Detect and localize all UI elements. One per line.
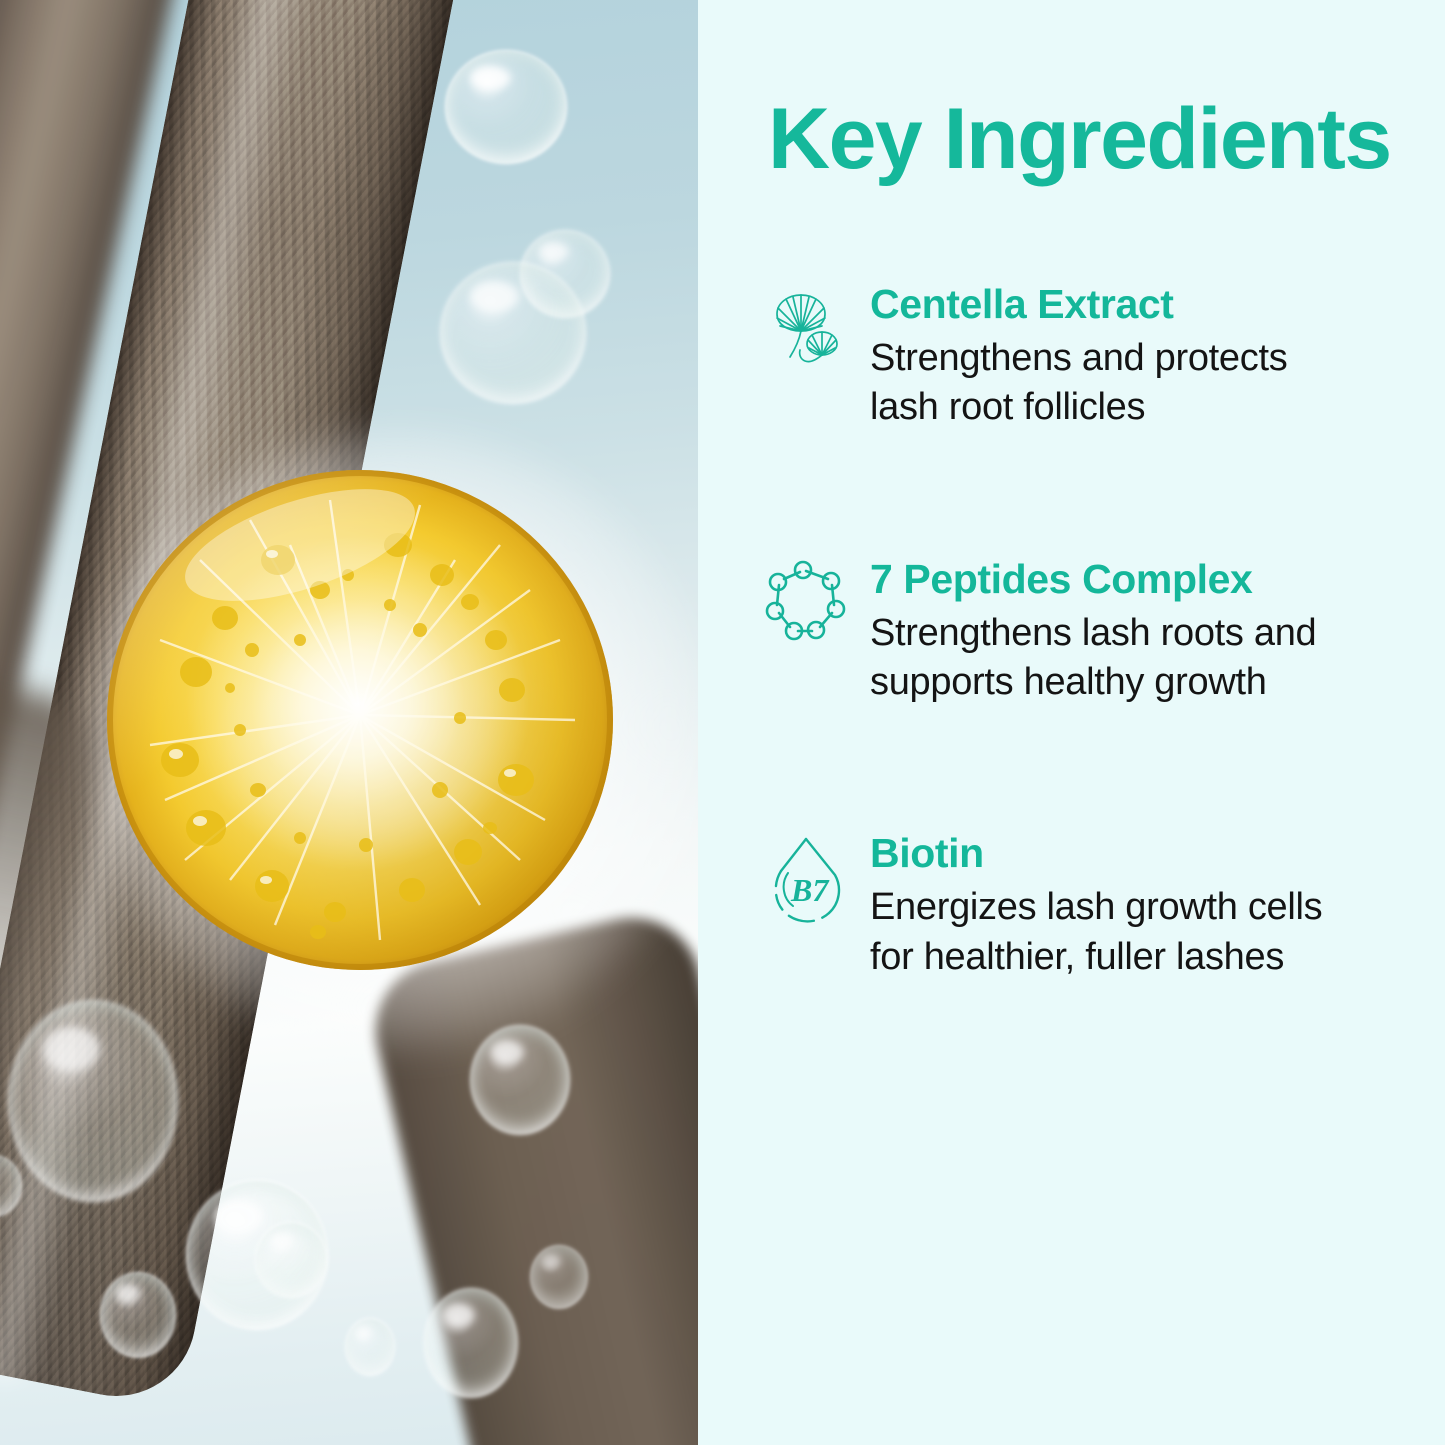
description-line: Energizes lash growth cells	[870, 883, 1418, 932]
bubble	[8, 1000, 178, 1202]
description-line: Strengthens and protects	[870, 334, 1418, 383]
bubble	[100, 1272, 176, 1358]
ingredient-text: 7 Peptides Complex Strengthens lash root…	[854, 553, 1418, 708]
bubble	[470, 1025, 570, 1135]
page-title: Key Ingredients	[768, 96, 1391, 182]
ingredients-panel: Key Ingredients	[698, 0, 1445, 1445]
list-item: 7 Peptides Complex Strengthens lash root…	[758, 553, 1418, 708]
key-ingredients-infographic: Key Ingredients	[0, 0, 1445, 1445]
list-item: Centella Extract Strengthens and protect…	[758, 278, 1418, 433]
ingredient-text: Centella Extract Strengthens and protect…	[854, 278, 1418, 433]
bubble	[345, 1318, 395, 1376]
ingredient-name: 7 Peptides Complex	[870, 557, 1418, 603]
ingredient-description: Energizes lash growth cells for healthie…	[870, 883, 1418, 982]
bubble	[530, 1245, 588, 1309]
peptide-ring-icon	[758, 553, 854, 649]
product-photo	[0, 0, 698, 1445]
ingredient-name: Biotin	[870, 831, 1418, 877]
ingredient-description: Strengthens lash roots and supports heal…	[870, 609, 1418, 708]
list-item: B7 Biotin Energizes lash growth cells fo…	[758, 827, 1418, 982]
ingredient-description: Strengthens and protects lash root folli…	[870, 334, 1418, 433]
biotin-droplet-b7-icon: B7	[758, 827, 854, 923]
bubble	[424, 1288, 518, 1398]
description-line: supports healthy growth	[870, 658, 1418, 707]
ingredient-name: Centella Extract	[870, 282, 1418, 328]
description-line: for healthier, fuller lashes	[870, 933, 1418, 982]
description-line: lash root follicles	[870, 383, 1418, 432]
gold-serum-droplet	[0, 0, 698, 1445]
svg-text:B7: B7	[790, 872, 830, 908]
ingredient-text: Biotin Energizes lash growth cells for h…	[854, 827, 1418, 982]
ingredient-list: Centella Extract Strengthens and protect…	[758, 278, 1418, 982]
centella-leaf-icon	[758, 278, 854, 374]
description-line: Strengthens lash roots and	[870, 609, 1418, 658]
bubble	[255, 1222, 327, 1298]
